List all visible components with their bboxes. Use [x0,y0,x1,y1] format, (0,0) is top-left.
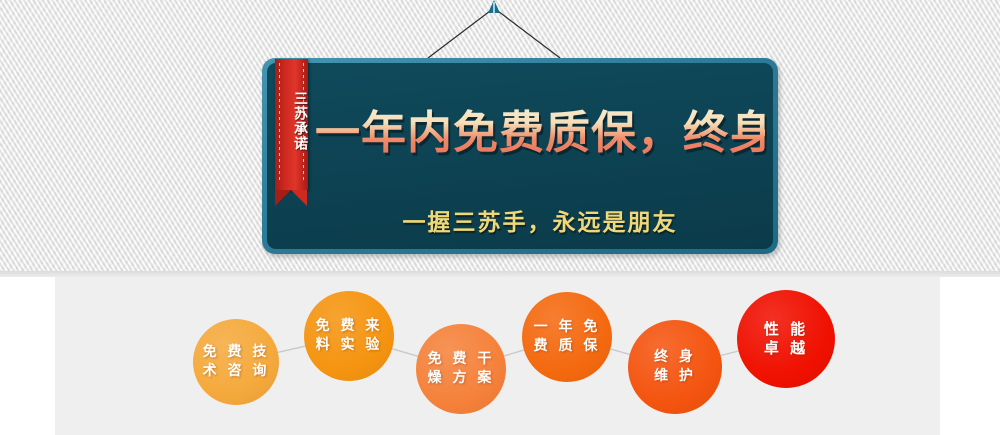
ribbon-label: 三苏承诺 [275,66,308,176]
promise-banner-panel: 三苏承诺 一年内免费质保，终身维护 一握三苏手，永远是朋友 [267,63,773,249]
flow-step-label-line1: 免 费 来 [312,317,387,336]
banner-subline: 一握三苏手，永远是朋友 [315,203,765,237]
flow-section: 免 费 技术 咨 询免 费 来料 实 验免 费 干燥 方 案一 年 免费 质 保… [0,277,1000,435]
flow-steps: 免 费 技术 咨 询免 费 来料 实 验免 费 干燥 方 案一 年 免费 质 保… [0,277,1000,435]
flow-step-circle-3[interactable]: 免 费 干燥 方 案 [416,324,506,414]
flow-step-circle-1[interactable]: 免 费 技术 咨 询 [193,319,279,405]
flow-step-label-line2: 卓 越 [760,339,812,358]
flow-step-label-line2: 燥 方 案 [424,369,499,388]
banner-headline: 一年内免费质保，终身维护 [315,107,765,159]
flow-step-label-line2: 维 护 [650,367,700,386]
flow-step-circle-4[interactable]: 一 年 免费 质 保 [522,292,612,382]
ribbon-badge: 三苏承诺 [275,59,308,190]
flow-step-circle-2[interactable]: 免 费 来料 实 验 [304,291,394,381]
flow-step-circle-6[interactable]: 性 能卓 越 [737,290,835,388]
flow-step-label-line2: 料 实 验 [312,336,387,355]
flow-step-label: 免 费 干燥 方 案 [420,350,503,388]
page-root: 三苏承诺 一年内免费质保，终身维护 一握三苏手，永远是朋友 免 费 技术 咨 询… [0,0,1000,435]
flow-step-label-line1: 一 年 免 [530,318,605,337]
flow-step-label: 免 费 技术 咨 询 [195,343,278,381]
flow-step-circle-5[interactable]: 终 身维 护 [628,320,722,414]
flow-step-label: 性 能卓 越 [756,320,816,358]
flow-step-label-line1: 免 费 技 [199,343,274,362]
flow-step-label-line1: 终 身 [650,348,700,367]
flow-step-label: 终 身维 护 [646,348,704,386]
flow-step-label-line1: 免 费 干 [424,350,499,369]
flow-step-label: 免 费 来料 实 验 [308,317,391,355]
flow-step-label: 一 年 免费 质 保 [526,318,609,356]
promise-banner: 三苏承诺 一年内免费质保，终身维护 一握三苏手，永远是朋友 [262,58,778,254]
flow-step-label-line2: 费 质 保 [530,337,605,356]
flow-step-label-line2: 术 咨 询 [199,362,274,381]
flow-step-label-line1: 性 能 [760,320,812,339]
